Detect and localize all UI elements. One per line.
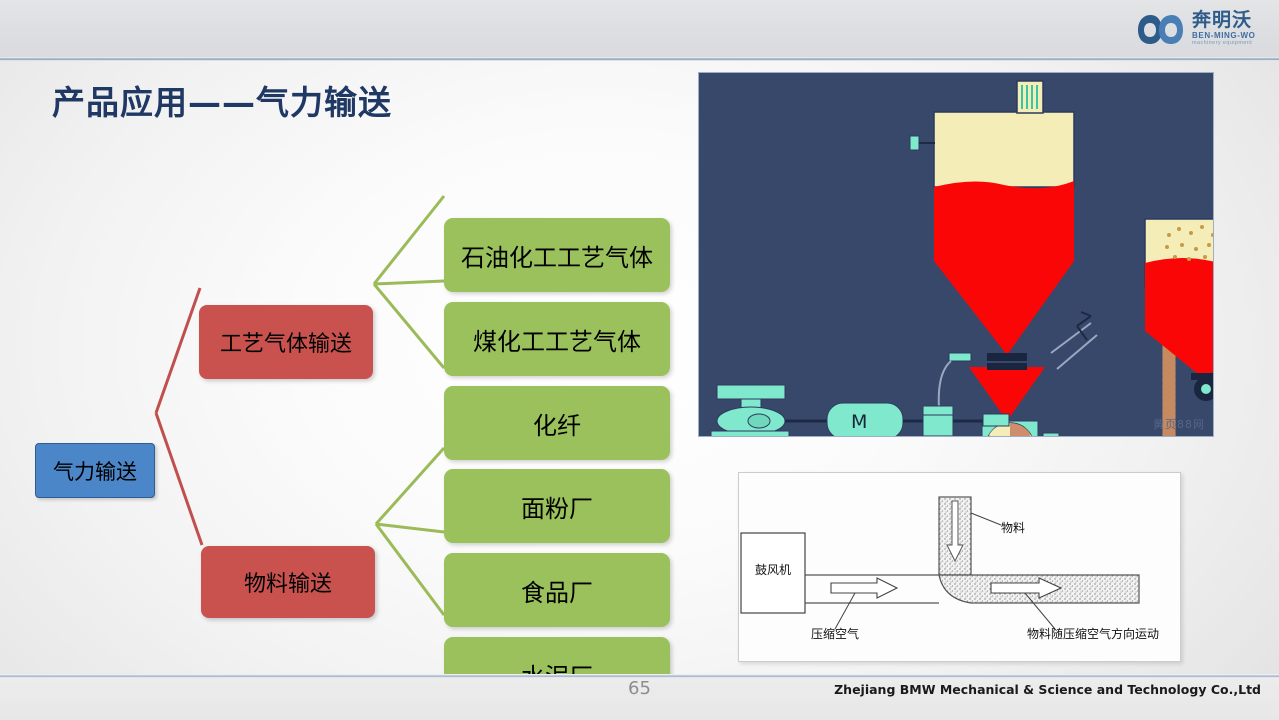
node-root-pneumatic-conveying[interactable]: 气力输送 [35, 443, 155, 498]
schematic-label-blower: 鼓风机 [755, 561, 791, 578]
node-leaf-coal-chemical-gas[interactable]: 煤化工工艺气体 [444, 302, 670, 376]
svg-text:M: M [851, 411, 867, 433]
application-tree-diagram: 气力输送 工艺气体输送 物料输送 石油化工工艺气体 煤化工工艺气体 化纤 面粉厂… [0, 58, 700, 678]
schematic-label-material-flow: 物料随压缩空气方向运动 [1027, 625, 1159, 642]
node-leaf-chemical-fiber[interactable]: 化纤 [444, 386, 670, 460]
slide: 奔明沃 BEN-MING-WO machinery equipment 产品应用… [0, 0, 1279, 720]
company-logo: 奔明沃 BEN-MING-WO machinery equipment [1137, 3, 1265, 55]
logo-english-name: BEN-MING-WO [1192, 32, 1255, 40]
logo-text-block: 奔明沃 BEN-MING-WO machinery equipment [1192, 11, 1255, 47]
footer-company-name: Zhejiang BMW Mechanical & Science and Te… [834, 682, 1261, 697]
node-leaf-flour-mill[interactable]: 面粉厂 [444, 469, 670, 543]
schematic-label-compressed-air: 压缩空气 [811, 625, 859, 642]
bo-loop-icon [1137, 11, 1187, 47]
schematic-label-material: 物料 [1001, 519, 1025, 536]
node-branch-material-conveying[interactable]: 物料输送 [201, 546, 375, 618]
illustration-watermark: 黄页88网 [1153, 416, 1205, 432]
logo-chinese-name: 奔明沃 [1192, 11, 1255, 30]
pneumatic-conveying-illustration: M M [698, 72, 1214, 437]
node-leaf-food-factory[interactable]: 食品厂 [444, 553, 670, 627]
conveying-principle-schematic: 鼓风机 物料 压缩空气 物料随压缩空气方向运动 [738, 472, 1181, 662]
node-leaf-petrochemical-gas[interactable]: 石油化工工艺气体 [444, 218, 670, 292]
logo-tagline: machinery equipment [1192, 41, 1255, 47]
node-branch-process-gas[interactable]: 工艺气体输送 [199, 305, 373, 379]
header-band [0, 0, 1279, 58]
